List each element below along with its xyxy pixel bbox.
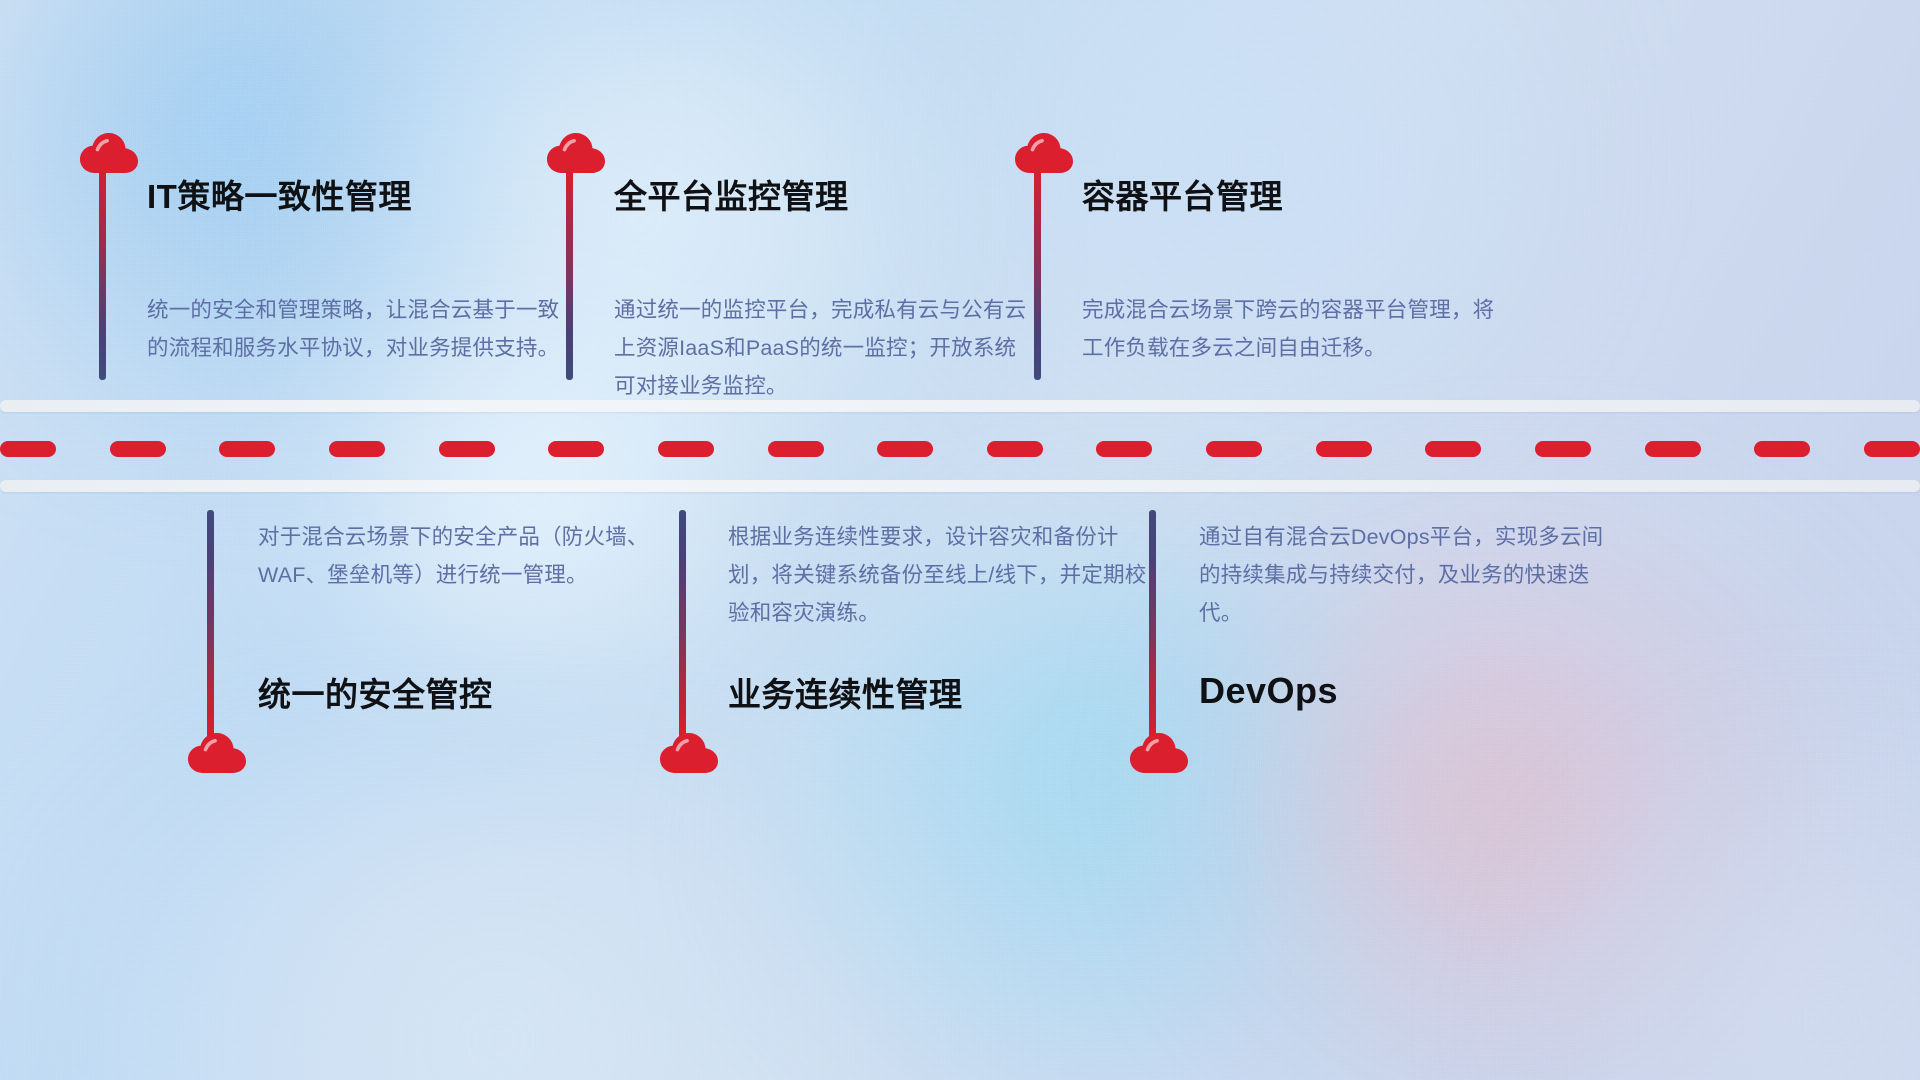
divider-dash <box>329 441 385 457</box>
cloud-icon <box>545 129 607 175</box>
bottom-heading-1: 统一的安全管控 <box>258 678 493 711</box>
divider-dash <box>1645 441 1701 457</box>
divider-dash <box>877 441 933 457</box>
divider-dash <box>0 441 56 457</box>
divider-dash <box>987 441 1043 457</box>
divider-dash <box>768 441 824 457</box>
connector-line <box>207 510 214 738</box>
divider-dash <box>1096 441 1152 457</box>
bottom-body-1: 对于混合云场景下的安全产品（防火墙、WAF、堡垒机等）进行统一管理。 <box>258 518 678 594</box>
divider-bar-bottom <box>0 480 1920 492</box>
infographic-canvas: IT策略一致性管理 统一的安全和管理策略，让混合云基于一致的流程和服务水平协议，… <box>0 0 1920 1080</box>
divider-dash <box>1535 441 1591 457</box>
divider-bar-top <box>0 400 1920 412</box>
connector-line <box>679 510 686 738</box>
cloud-icon <box>1013 129 1075 175</box>
cloud-icon <box>186 729 248 775</box>
divider-dash <box>658 441 714 457</box>
cloud-icon <box>658 729 720 775</box>
bottom-body-3: 通过自有混合云DevOps平台，实现多云间的持续集成与持续交付，及业务的快速迭代… <box>1199 518 1619 632</box>
top-body-3: 完成混合云场景下跨云的容器平台管理，将工作负载在多云之间自由迁移。 <box>1082 291 1502 367</box>
top-body-1: 统一的安全和管理策略，让混合云基于一致的流程和服务水平协议，对业务提供支持。 <box>147 291 567 367</box>
divider-dash <box>110 441 166 457</box>
cloud-icon <box>78 129 140 175</box>
top-heading-2: 全平台监控管理 <box>614 180 849 213</box>
top-heading-1: IT策略一致性管理 <box>147 180 412 213</box>
divider-dash <box>1754 441 1810 457</box>
bottom-heading-2: 业务连续性管理 <box>728 678 963 711</box>
divider-dash <box>439 441 495 457</box>
connector-line <box>99 168 106 380</box>
bottom-body-2: 根据业务连续性要求，设计容灾和备份计划，将关键系统备份至线上/线下，并定期校验和… <box>728 518 1148 632</box>
divider-dash <box>1316 441 1372 457</box>
connector-line <box>1149 510 1156 738</box>
cloud-icon <box>1128 729 1190 775</box>
divider-dash <box>1206 441 1262 457</box>
top-heading-3: 容器平台管理 <box>1082 180 1283 213</box>
divider-dashed-line <box>0 441 1920 457</box>
connector-line <box>1034 168 1041 380</box>
bottom-heading-3: DevOps <box>1199 673 1338 709</box>
divider-dash <box>548 441 604 457</box>
divider-dash <box>1864 441 1920 457</box>
top-body-2: 通过统一的监控平台，完成私有云与公有云上资源IaaS和PaaS的统一监控；开放系… <box>614 291 1034 405</box>
divider-dash <box>1425 441 1481 457</box>
connector-line <box>566 168 573 380</box>
divider-dash <box>219 441 275 457</box>
